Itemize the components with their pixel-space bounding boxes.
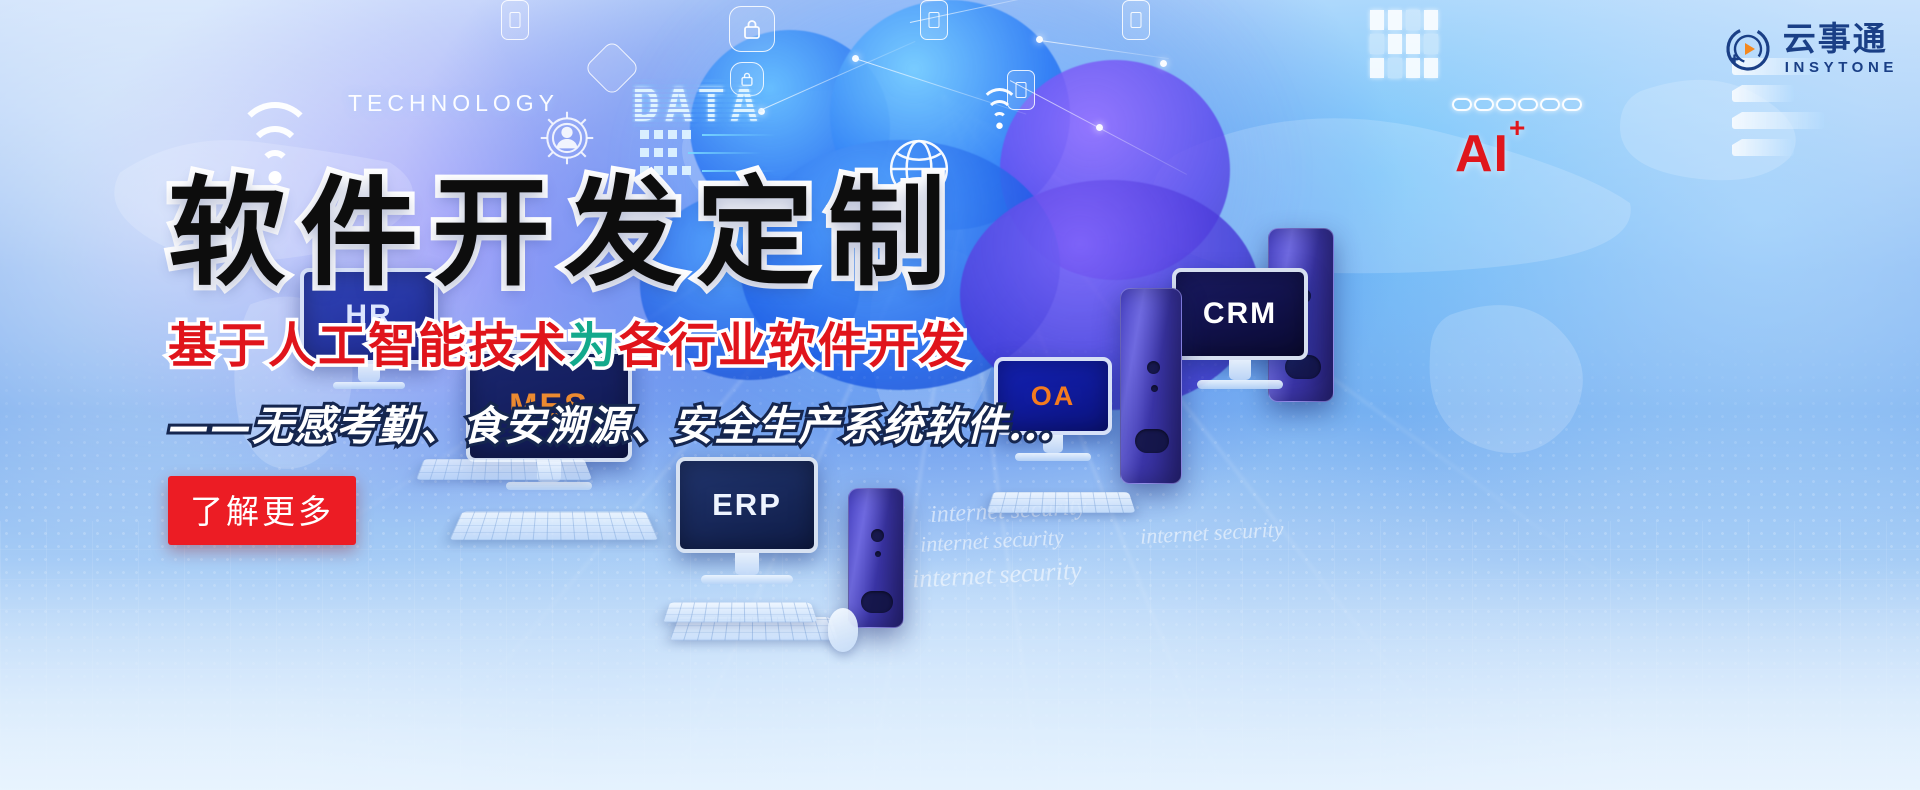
data-label: DATA [632, 78, 763, 132]
promo-banner: TECHNOLOGY DATA AI+ HR MES ERP OA [0, 0, 1920, 790]
user-icon [557, 127, 578, 149]
lock-badge-icon [729, 6, 775, 52]
tower-oa [1120, 288, 1182, 484]
headline-copy-block: 软件开发定制 基于人工智能技术为各行业软件开发 ——无感考勤、食安溯源、安全生产… [168, 172, 1054, 545]
keyboard-front [663, 603, 818, 623]
settings-gear-icon [537, 108, 597, 168]
network-node [1096, 124, 1103, 131]
screen-crm: CRM [1172, 268, 1308, 360]
perspective-grid [0, 521, 1920, 790]
subtitle-line: 基于人工智能技术为各行业软件开发 [168, 306, 1054, 376]
tagline: ——无感考勤、食安溯源、安全生产系统软件... [168, 392, 1054, 452]
chip-icon [1007, 70, 1035, 110]
page-title: 软件开发定制 [168, 172, 1054, 296]
brand-logo[interactable]: 云事通 INSYTONE [1724, 22, 1898, 75]
pixel-block-decoration [1370, 10, 1438, 78]
ai-superscript: + [1509, 112, 1526, 143]
subtitle-accent: 为 [568, 318, 618, 374]
logo-name-cn: 云事通 [1783, 22, 1898, 55]
technology-label: TECHNOLOGY [348, 90, 559, 117]
logo-name-en: INSYTONE [1785, 60, 1898, 75]
network-link [1010, 80, 1187, 175]
chip-icon [920, 0, 948, 40]
watermark-text: internet security [911, 556, 1082, 595]
logo-text-block: 云事通 INSYTONE [1783, 22, 1898, 75]
ai-plus-label: AI+ [1455, 124, 1526, 184]
mouse-device [828, 608, 858, 652]
ai-text: AI [1455, 125, 1509, 183]
subtitle-part-2: 各行业软件开发 [618, 318, 968, 374]
network-link [760, 41, 916, 111]
network-link [910, 0, 1057, 23]
chain-link-decoration [1452, 98, 1582, 111]
right-haze-glow [1340, 0, 1920, 640]
bottom-fade [0, 560, 1920, 790]
network-node [852, 55, 859, 62]
device-crm: CRM [1172, 268, 1308, 389]
watermark-text: internet security [1139, 516, 1284, 549]
subtitle-part-1: 基于人工智能技术 [168, 318, 568, 374]
network-link [855, 58, 1027, 115]
learn-more-button[interactable]: 了解更多 [168, 476, 356, 545]
network-link [1040, 40, 1169, 59]
logo-mark-icon [1724, 25, 1772, 73]
chip-icon [501, 0, 529, 40]
network-node [1160, 60, 1167, 67]
network-node [1036, 36, 1043, 43]
lock-icon [742, 18, 762, 40]
chip-icon [1122, 0, 1150, 40]
wifi-icon [978, 98, 1021, 130]
